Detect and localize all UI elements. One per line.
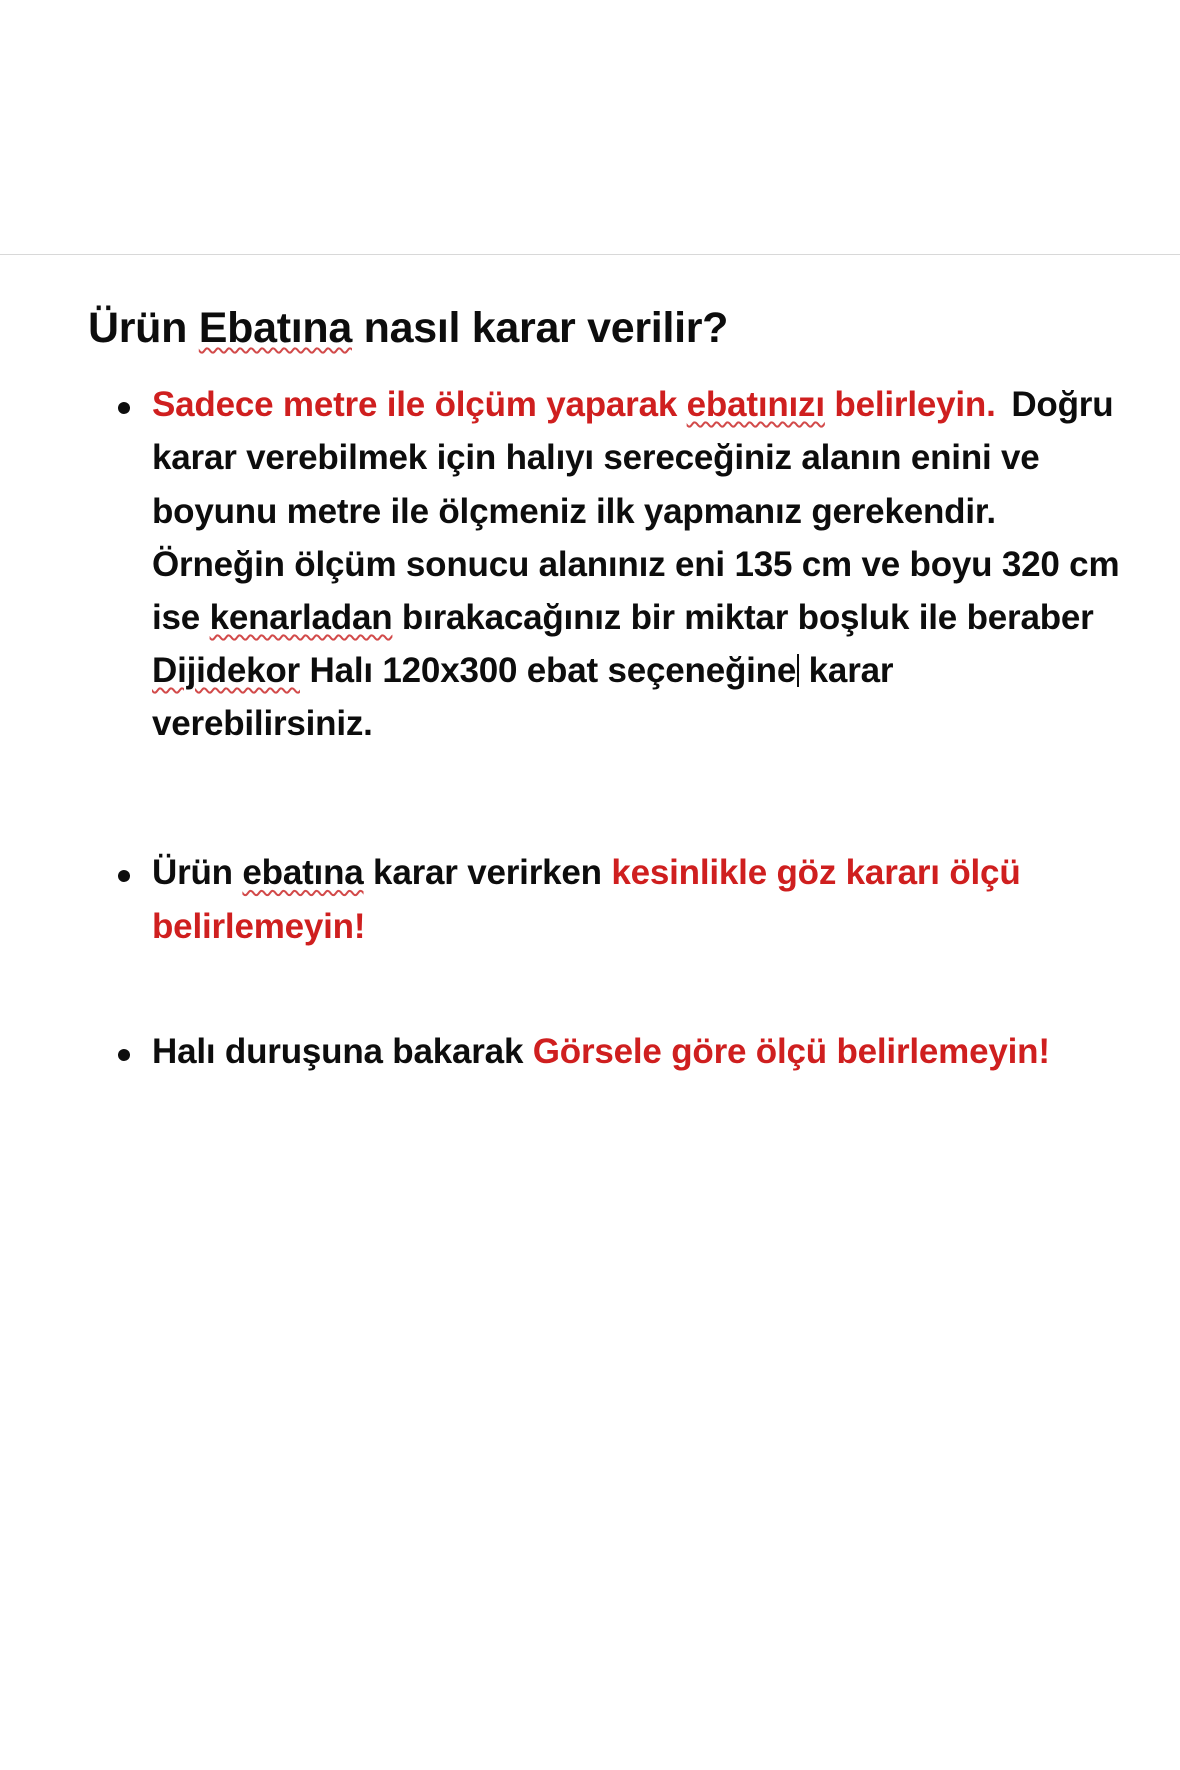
- title-text-after: nasıl karar verilir?: [352, 304, 728, 352]
- bullet1-black-b: bırakacağınız bir miktar boşluk ile bera…: [392, 598, 1093, 637]
- list-item: Sadece metre ile ölçüm yaparak ebatınızı…: [0, 378, 1180, 750]
- bullet1-red-lead-b: belirleyin.: [825, 385, 996, 424]
- page-title: Ürün Ebatına nasıl karar verilir?: [0, 256, 1180, 352]
- bullet1-red-lead-a: Sadece metre ile ölçüm yaparak: [152, 385, 687, 424]
- bullet1-misspelled-dijidekor: Dijidekor: [152, 651, 300, 690]
- bullet3-black-a: Halı duruşuna bakarak: [152, 1032, 533, 1071]
- header-divider: [0, 254, 1180, 255]
- bullet2-black-b: karar verirken: [364, 853, 612, 892]
- bullet1-misspelled-ebatinizi: ebatınızı: [687, 385, 825, 424]
- title-text-before: Ürün: [88, 304, 199, 352]
- list-item: Ürün ebatına karar verirken kesinlikle g…: [0, 846, 1180, 952]
- bullet2-black-a: Ürün: [152, 853, 242, 892]
- list-item: Halı duruşuna bakarak Görsele göre ölçü …: [0, 1025, 1180, 1078]
- bullet-list: Sadece metre ile ölçüm yaparak ebatınızı…: [0, 378, 1180, 1078]
- bullet3-red-a: Görsele göre ölçü belirlemeyin!: [533, 1032, 1050, 1071]
- slide-content: Ürün Ebatına nasıl karar verilir? Sadece…: [0, 256, 1180, 1078]
- title-misspelled-word: Ebatına: [199, 304, 352, 352]
- bullet2-misspelled-ebatina: ebatına: [242, 853, 363, 892]
- bullet1-misspelled-kenarladan: kenarladan: [210, 598, 393, 637]
- bullet1-black-c: Halı 120x300 ebat seçeneğine: [300, 651, 796, 690]
- document-page: Ürün Ebatına nasıl karar verilir? Sadece…: [0, 0, 1180, 1770]
